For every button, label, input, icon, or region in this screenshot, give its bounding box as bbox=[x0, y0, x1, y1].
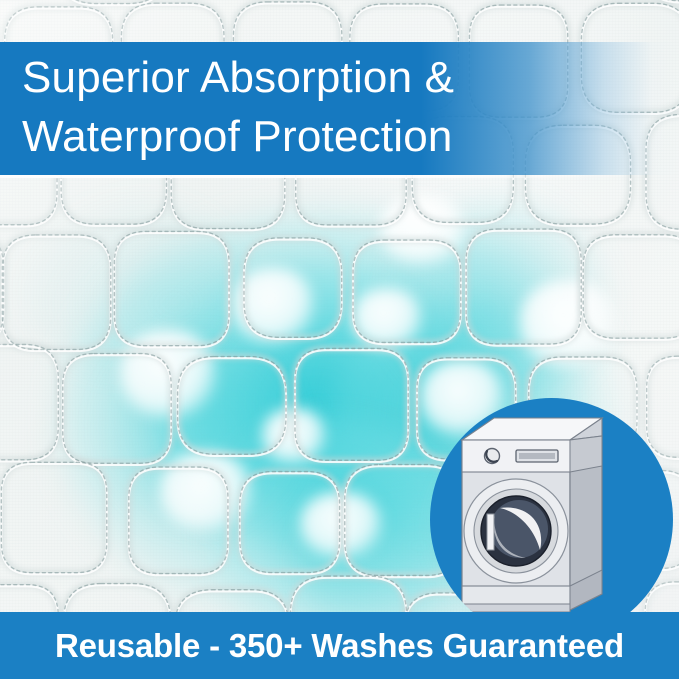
product-marketing-image: Superior Absorption & Waterproof Protect… bbox=[0, 0, 679, 679]
washing-machine-icon bbox=[430, 398, 673, 641]
washing-machine-badge-clip bbox=[430, 398, 673, 641]
headline-text: Superior Absorption & Waterproof Protect… bbox=[22, 48, 542, 166]
bottom-banner-text: Reusable - 350+ Washes Guaranteed bbox=[0, 612, 679, 679]
top-banner-underline bbox=[0, 175, 679, 178]
